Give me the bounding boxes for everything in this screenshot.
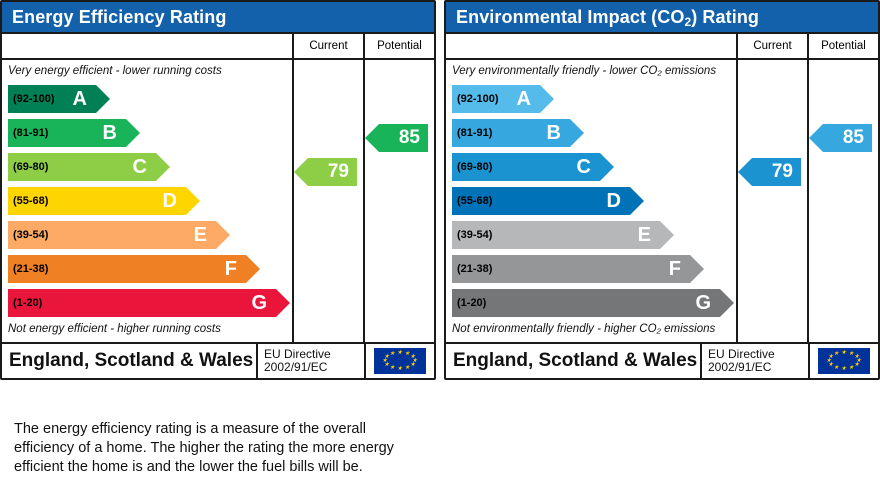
energy-header-potential: Potential: [365, 34, 434, 58]
energy-band-f-letter: F: [225, 259, 237, 279]
co2-header-potential: Potential: [809, 34, 878, 58]
energy-efficiency-panel: Energy Efficiency Rating Current Potenti…: [0, 0, 436, 380]
table-row: (39-54) E: [452, 218, 736, 252]
co2-footer-region: England, Scotland & Wales: [446, 344, 700, 378]
co2-band-a-letter: A: [517, 89, 531, 109]
co2-note-top: Very environmentally friendly - lower CO…: [446, 60, 736, 82]
table-row: (21-38) F: [452, 252, 736, 286]
co2-footer-directive: EU Directive 2002/91/EC: [700, 344, 808, 378]
co2-title-suffix: ) Rating: [691, 7, 759, 27]
co2-potential-column: 85: [809, 60, 878, 342]
energy-band-b: (81-91) B: [8, 119, 126, 147]
co2-title-prefix: Environmental Impact (CO: [456, 7, 684, 27]
energy-band-c-letter: C: [133, 157, 147, 177]
co2-band-g-range: (1-20): [452, 297, 486, 309]
eu-flag-icon: ★★★★★★★★★★★★: [818, 348, 870, 374]
energy-band-c: (69-80) C: [8, 153, 156, 181]
energy-band-a: (92-100) A: [8, 85, 96, 113]
energy-header-current: Current: [294, 34, 365, 58]
energy-band-e: (39-54) E: [8, 221, 216, 249]
energy-footer-directive: EU Directive 2002/91/EC: [256, 344, 364, 378]
co2-band-g-letter: G: [695, 293, 711, 313]
co2-band-g: (1-20) G: [452, 289, 720, 317]
energy-band-e-letter: E: [194, 225, 207, 245]
co2-band-b: (81-91) B: [452, 119, 570, 147]
co2-band-d-letter: D: [607, 191, 621, 211]
co2-band-c: (69-80) C: [452, 153, 600, 181]
co2-chart-body: Very environmentally friendly - lower CO…: [446, 58, 878, 342]
co2-band-e: (39-54) E: [452, 221, 660, 249]
co2-note-bottom: Not environmentally friendly - higher CO…: [446, 320, 736, 342]
co2-current-column: 79: [738, 60, 809, 342]
energy-note-top: Very energy efficient - lower running co…: [2, 60, 292, 82]
energy-chart-title: Energy Efficiency Rating: [2, 2, 434, 32]
energy-note-bottom: Not energy efficient - higher running co…: [2, 320, 292, 342]
co2-band-a-range: (92-100): [452, 93, 499, 105]
co2-column-headers: Current Potential: [446, 32, 878, 58]
co2-bands-area: Very environmentally friendly - lower CO…: [446, 60, 738, 342]
co2-band-f-letter: F: [669, 259, 681, 279]
co2-band-c-range: (69-80): [452, 161, 492, 173]
energy-band-d: (55-68) D: [8, 187, 186, 215]
co2-band-f-range: (21-38): [452, 263, 492, 275]
co2-chart-title: Environmental Impact (CO2) Rating: [446, 2, 878, 32]
energy-band-a-letter: A: [73, 89, 87, 109]
co2-header-current: Current: [738, 34, 809, 58]
table-row: (21-38) F: [8, 252, 292, 286]
energy-bands-area: Very energy efficient - lower running co…: [2, 60, 294, 342]
table-row: (55-68) D: [8, 184, 292, 218]
table-row: (1-20) G: [8, 286, 292, 320]
table-row: (55-68) D: [452, 184, 736, 218]
energy-band-b-range: (81-91): [8, 127, 48, 139]
co2-band-b-range: (81-91): [452, 127, 492, 139]
eu-flag-cell-2: ★★★★★★★★★★★★: [808, 344, 878, 378]
table-row: (81-91) B: [8, 116, 292, 150]
eu-flag-icon: ★★★★★★★★★★★★: [374, 348, 426, 374]
co2-directive-line2: 2002/91/EC: [708, 361, 808, 374]
energy-band-d-letter: D: [163, 191, 177, 211]
energy-band-b-letter: B: [103, 123, 117, 143]
energy-band-d-range: (55-68): [8, 195, 48, 207]
co2-footer: England, Scotland & Wales EU Directive 2…: [446, 342, 878, 378]
table-row: (1-20) G: [452, 286, 736, 320]
co2-band-f: (21-38) F: [452, 255, 690, 283]
energy-chart-body: Very energy efficient - lower running co…: [2, 58, 434, 342]
table-row: (92-100) A: [452, 82, 736, 116]
energy-band-g-range: (1-20): [8, 297, 42, 309]
energy-band-g: (1-20) G: [8, 289, 276, 317]
co2-band-a: (92-100) A: [452, 85, 540, 113]
table-row: (92-100) A: [8, 82, 292, 116]
table-row: (69-80) C: [452, 150, 736, 184]
energy-band-g-letter: G: [251, 293, 267, 313]
energy-directive-line2: 2002/91/EC: [264, 361, 364, 374]
energy-footer-region: England, Scotland & Wales: [2, 344, 256, 378]
table-row: (81-91) B: [452, 116, 736, 150]
co2-band-e-letter: E: [638, 225, 651, 245]
table-row: (69-80) C: [8, 150, 292, 184]
eu-flag-cell: ★★★★★★★★★★★★: [364, 344, 434, 378]
energy-caption: The energy efficiency rating is a measur…: [14, 420, 414, 477]
energy-band-c-range: (69-80): [8, 161, 48, 173]
co2-band-b-letter: B: [547, 123, 561, 143]
environmental-impact-panel: Environmental Impact (CO2) Rating Curren…: [444, 0, 880, 380]
energy-column-headers: Current Potential: [2, 32, 434, 58]
energy-current-value: 79: [308, 158, 357, 186]
co2-band-c-letter: C: [577, 157, 591, 177]
co2-title-sub: 2: [684, 15, 691, 29]
co2-header-spacer: [446, 34, 738, 58]
co2-band-list: (92-100) A (81-91) B (69: [446, 82, 736, 320]
table-row: (39-54) E: [8, 218, 292, 252]
energy-band-a-range: (92-100): [8, 93, 55, 105]
epc-graphs: Energy Efficiency Rating Current Potenti…: [0, 0, 880, 493]
energy-header-spacer: [2, 34, 294, 58]
co2-potential-value: 85: [823, 124, 872, 152]
co2-band-d-range: (55-68): [452, 195, 492, 207]
energy-band-f: (21-38) F: [8, 255, 246, 283]
co2-chart-box: Environmental Impact (CO2) Rating Curren…: [444, 0, 880, 380]
energy-current-column: 79: [294, 60, 365, 342]
energy-band-e-range: (39-54): [8, 229, 48, 241]
energy-potential-value: 85: [379, 124, 428, 152]
energy-band-f-range: (21-38): [8, 263, 48, 275]
energy-potential-column: 85: [365, 60, 434, 342]
energy-chart-box: Energy Efficiency Rating Current Potenti…: [0, 0, 436, 380]
co2-current-value: 79: [752, 158, 801, 186]
energy-footer: England, Scotland & Wales EU Directive 2…: [2, 342, 434, 378]
co2-band-d: (55-68) D: [452, 187, 630, 215]
energy-band-list: (92-100) A (81-91) B (69: [2, 82, 292, 320]
co2-band-e-range: (39-54): [452, 229, 492, 241]
